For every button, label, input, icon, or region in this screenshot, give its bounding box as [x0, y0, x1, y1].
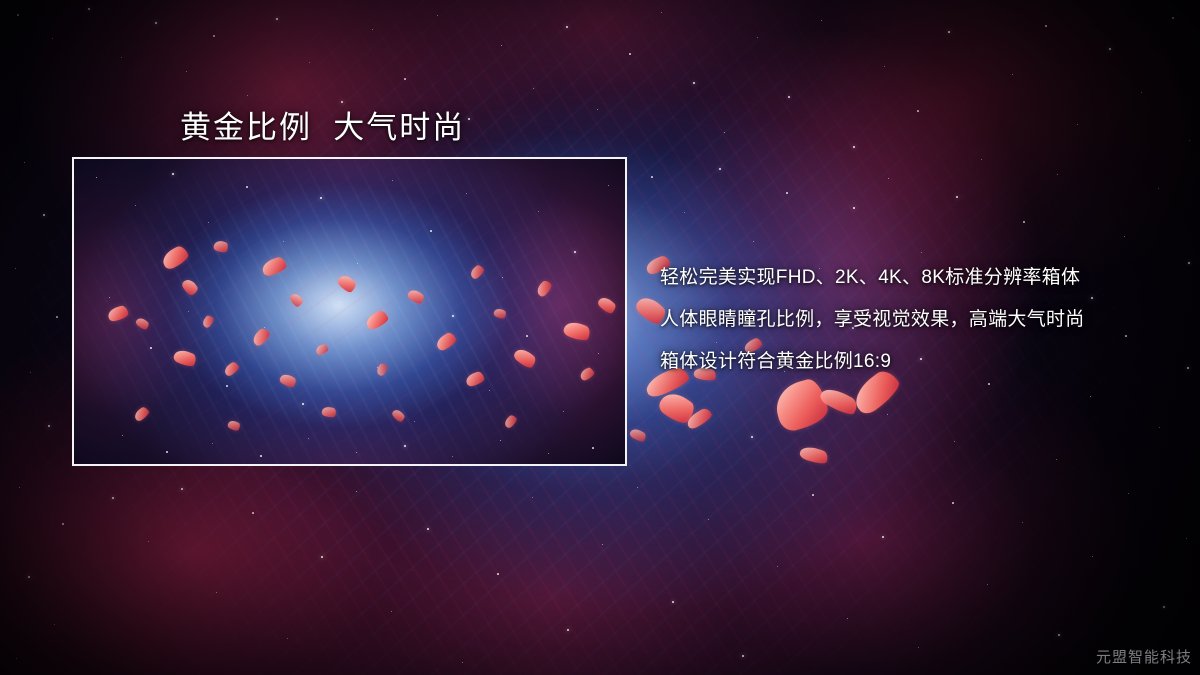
feature-line-2: 人体眼睛瞳孔比例，享受视觉效果，高端大气时尚: [660, 299, 1085, 341]
preview-filaments: [74, 159, 625, 464]
golden-ratio-preview-panel: [72, 157, 627, 466]
page-title: 黄金比例 大气时尚: [180, 102, 465, 147]
preview-nebula-image: [74, 159, 625, 464]
feature-line-3: 箱体设计符合黄金比例16:9: [660, 341, 1085, 383]
company-watermark: 元盟智能科技: [1096, 646, 1192, 667]
feature-description: 轻松完美实现FHD、2K、4K、8K标准分辨率箱体 人体眼睛瞳孔比例，享受视觉效…: [660, 257, 1085, 383]
feature-line-1: 轻松完美实现FHD、2K、4K、8K标准分辨率箱体: [660, 257, 1085, 299]
presentation-slide: 黄金比例 大气时尚 轻松完美实现FHD、2K、4K、8K标准分辨率箱体 人体眼睛…: [0, 0, 1200, 675]
